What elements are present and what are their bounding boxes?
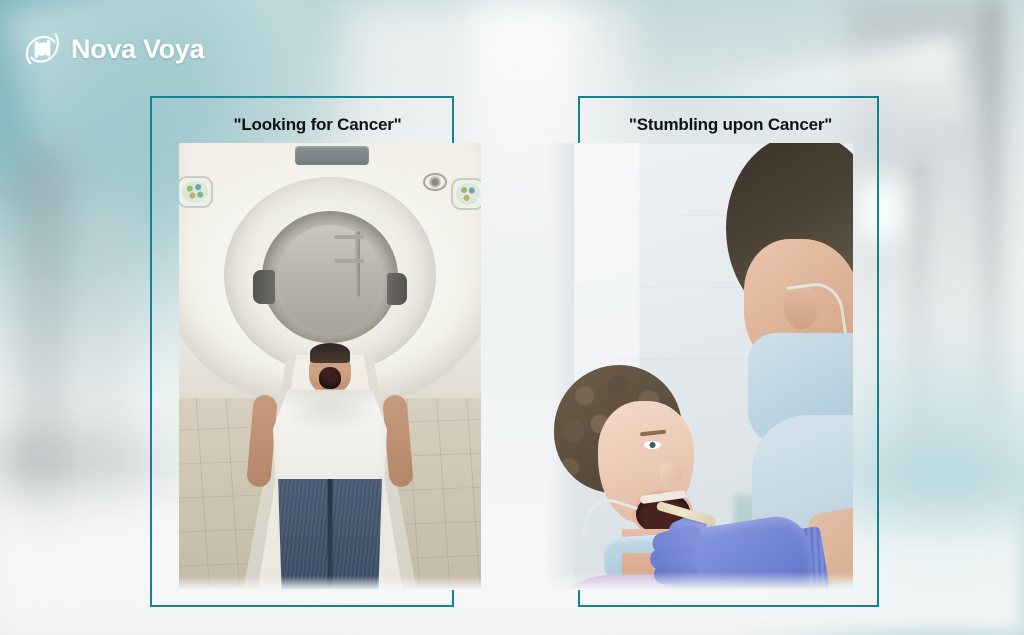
brand-logo[interactable]: Nova Voya [26, 30, 204, 68]
ct-bore-support-bar [355, 231, 360, 297]
ct-gantry-sticker-right [451, 178, 481, 210]
patient-open-mouth [319, 367, 341, 389]
ct-gantry-notch-right [387, 273, 407, 305]
brand-name: Nova Voya [71, 36, 204, 63]
photo-throat-examination [548, 143, 853, 590]
ct-gantry-sticker-left [179, 176, 213, 208]
photo-left-bottom-fade [179, 576, 481, 590]
ct-bore-crossbar-lower [334, 259, 364, 263]
ct-gantry-display-panel [295, 146, 369, 165]
clinic-wall-edge-left [548, 143, 574, 590]
ct-bore-crossbar-upper [334, 235, 364, 239]
patient-eye [644, 441, 661, 449]
panel-title-right: "Stumbling upon Cancer" [588, 115, 873, 135]
ct-scanner-bore-inner [278, 225, 382, 333]
patient-jeans-seam [328, 479, 333, 590]
ct-gantry-dial-right [423, 173, 447, 191]
nova-swoosh-n-icon [26, 30, 60, 68]
panel-title-left: "Looking for Cancer" [182, 115, 453, 135]
photo-right-bottom-fade [548, 572, 853, 590]
photo-ct-scanner-patient [179, 143, 481, 590]
ct-gantry-notch-left [253, 270, 275, 304]
patient-hair [310, 343, 350, 363]
